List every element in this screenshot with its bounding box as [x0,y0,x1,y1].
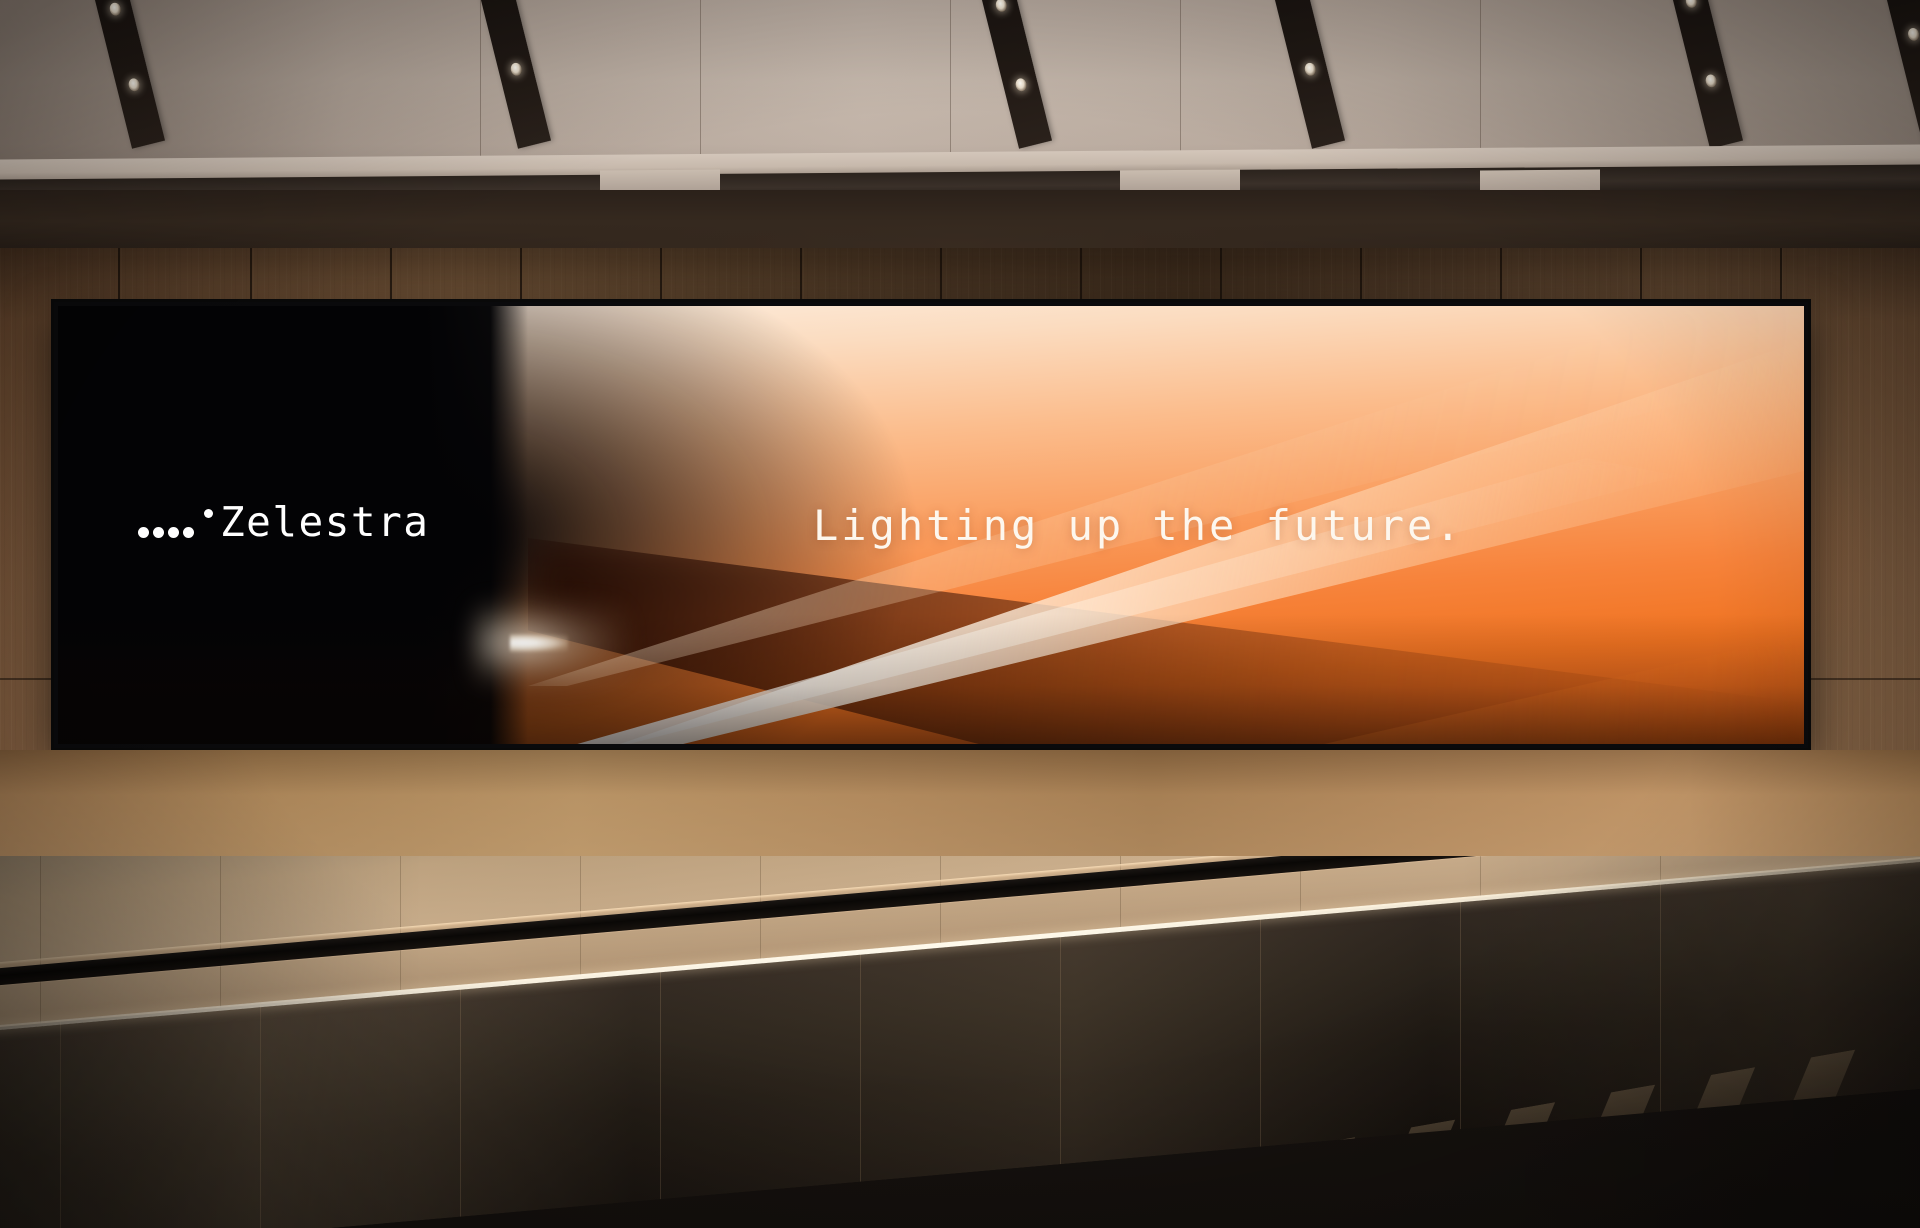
zelestra-wordmark: Zelestra [220,502,429,542]
glass-seam-7 [1260,917,1261,1147]
ceiling-seam-5 [1480,0,1481,160]
escalator-step-8 [1249,1137,1355,1228]
glass-seam-1 [60,1022,61,1228]
escalator-step-4 [849,1207,955,1228]
logo-dot-1 [138,527,149,538]
billboard-tagline: Lighting up the future. [813,504,1464,548]
lower-wood-tone [0,750,1920,862]
glass-seam-9 [1660,882,1661,1112]
ceiling-seam-1 [480,0,481,160]
billboard-frame: Zelestra Lighting up the future. [54,302,1808,748]
escalator-area [0,856,1920,1228]
glass-seam-5 [860,952,861,1182]
logo-dot-3 [168,527,179,538]
glass-seam-3 [460,987,461,1217]
ceiling-spotlight-6-1 [1906,27,1920,42]
ceiling-seam-4 [1180,0,1181,160]
ceiling-spotlight-1-2 [127,77,141,92]
logo-dot-4 [183,527,194,538]
ceiling-spotlight-2-2 [509,62,523,77]
ceiling-spotlight-5-1 [1684,0,1698,9]
ceiling-spotlight-3-2 [1014,77,1028,92]
logo-raised-dot [204,509,213,518]
glass-seam-2 [260,1004,261,1228]
zelestra-logo[interactable]: Zelestra [138,502,429,542]
logo-dot-2 [153,527,164,538]
glass-seam-4 [660,969,661,1199]
ceiling-spotlight-5-2 [1704,73,1718,88]
escalator-step-12 [1649,1067,1755,1226]
escalator-step-13 [1749,1050,1855,1209]
screen-bottom-shade [58,614,1804,744]
ceiling-seam-3 [950,0,951,160]
escalator-step-5 [949,1190,1055,1228]
billboard-screen[interactable]: Zelestra Lighting up the future. [58,306,1804,744]
escalator-step-6 [1049,1172,1155,1228]
ceiling-spotlight-3-1 [994,0,1008,13]
billboard-scene: Zelestra Lighting up the future. [0,0,1920,1228]
glass-seam-6 [1060,934,1061,1164]
escalator-step-7 [1149,1155,1255,1228]
escalator-step-9 [1349,1120,1455,1228]
zelestra-dot-cluster [138,506,216,542]
lower-wood-panel [0,750,1920,862]
escalator-step-11 [1549,1085,1655,1228]
glass-seam-8 [1460,899,1461,1129]
ceiling-spotlight-4-2 [1303,62,1317,77]
ceiling-spotlight-1-1 [108,2,122,17]
escalator-step-3 [749,1225,855,1228]
ceiling-seam-2 [700,0,701,160]
escalator-step-10 [1449,1102,1555,1228]
